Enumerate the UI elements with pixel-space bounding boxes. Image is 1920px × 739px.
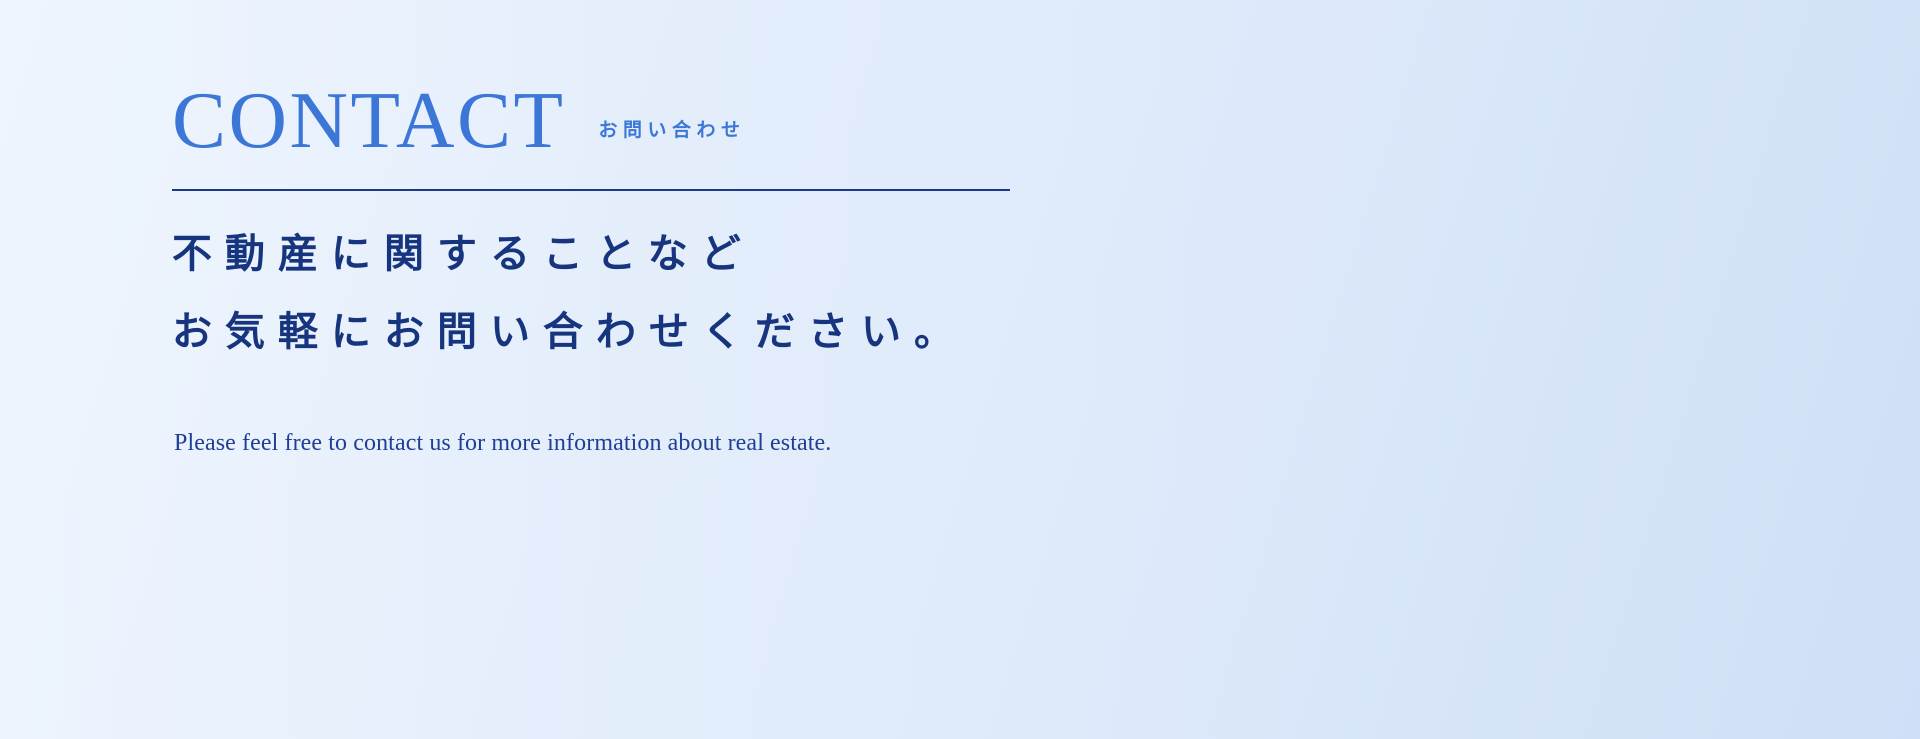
- lead-copy-line-1: 不動産に関することなど: [172, 215, 967, 293]
- page-title: CONTACT: [172, 83, 566, 158]
- contact-section: CONTACT お問い合わせ 不動産に関することなど お気軽にお問い合わせくださ…: [0, 0, 1920, 739]
- lead-copy-line-2: お気軽にお問い合わせください。: [172, 293, 967, 371]
- heading-divider: [172, 189, 1010, 191]
- lead-copy: 不動産に関することなど お気軽にお問い合わせください。: [172, 215, 967, 371]
- contact-content: CONTACT お問い合わせ 不動産に関することなど お気軽にお問い合わせくださ…: [172, 0, 1572, 739]
- section-heading: CONTACT お問い合わせ: [172, 83, 746, 158]
- page-subtitle-japanese: お問い合わせ: [599, 115, 746, 142]
- english-note: Please feel free to contact us for more …: [174, 430, 831, 457]
